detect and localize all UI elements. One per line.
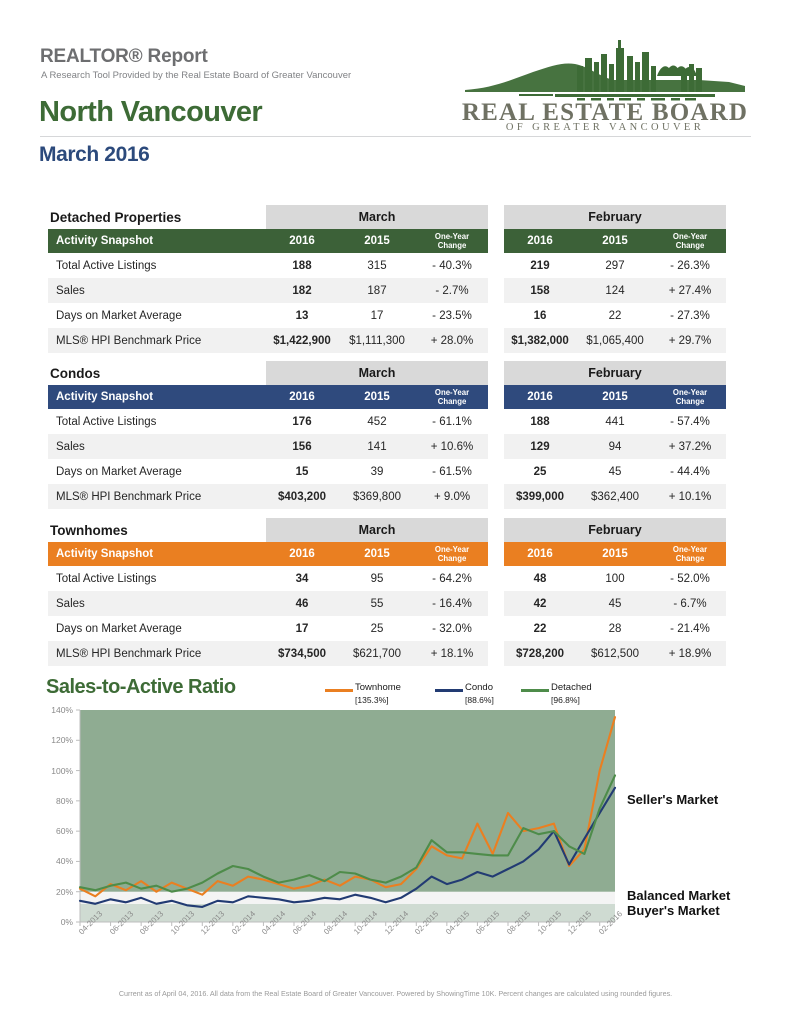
cell-february-2015: 100 [576,566,654,591]
column-gap [488,303,504,328]
legend-swatch-townhome [325,689,353,692]
table-row: MLS® HPI Benchmark Price$403,200$369,800… [48,484,748,509]
y-tick-label: 100% [51,766,73,776]
column-gap [488,434,504,459]
column-gap [488,361,504,385]
column-gap [488,616,504,641]
table-row: Days on Market Average1539- 61.5%2545- 4… [48,459,748,484]
table-month-header-row: CondosMarchFebruary [48,361,748,385]
cell-march-2016: 188 [266,253,338,278]
month-right-header-mid: February [576,518,654,542]
month-left-header [266,518,338,542]
cell-march-2015: 187 [338,278,416,303]
cell-february-2015: 297 [576,253,654,278]
cell-march-2015: 95 [338,566,416,591]
cell-march-2016: 17 [266,616,338,641]
legend-label-townhome: Townhome [355,682,401,693]
row-label: Days on Market Average [48,616,266,641]
y-tick-label: 60% [56,826,73,836]
month-right-header-end [654,361,726,385]
table-section-title: Detached Properties [48,205,266,229]
table-month-header-row: TownhomesMarchFebruary [48,518,748,542]
activity-snapshot-label: Activity Snapshot [48,229,266,253]
cell-february-change: + 29.7% [654,328,726,353]
year-current-header: 2016 [266,229,338,253]
cell-march-2016: 182 [266,278,338,303]
month-right-header-end [654,518,726,542]
cell-march-2016: 46 [266,591,338,616]
cell-february-2015: 45 [576,591,654,616]
cell-march-change: - 64.2% [416,566,488,591]
year-current-header: 2016 [266,385,338,409]
cell-february-change: + 27.4% [654,278,726,303]
year-prior-header: 2015 [576,385,654,409]
cell-february-change: - 21.4% [654,616,726,641]
one-year-change-header: One-YearChange [654,542,726,566]
cell-february-change: + 37.2% [654,434,726,459]
legend-label-detached: Detached [551,682,592,693]
table-row: Total Active Listings176452- 61.1%188441… [48,409,748,434]
page-title: North Vancouver [39,96,262,129]
row-label: Total Active Listings [48,253,266,278]
year-current-header: 2016 [504,542,576,566]
cell-february-change: - 52.0% [654,566,726,591]
one-year-change-header: One-YearChange [416,229,488,253]
y-tick-label: 80% [56,796,73,806]
cell-march-2016: 156 [266,434,338,459]
footer-note: Current as of April 04, 2016. All data f… [0,989,791,998]
cell-february-2016: 22 [504,616,576,641]
column-gap [488,484,504,509]
cell-february-2016: $1,382,000 [504,328,576,353]
table-row: Days on Market Average1317- 23.5%1622- 2… [48,303,748,328]
year-current-header: 2016 [504,229,576,253]
cell-february-2016: 188 [504,409,576,434]
cell-february-change: - 26.3% [654,253,726,278]
column-gap [488,641,504,666]
cell-february-2015: 94 [576,434,654,459]
table-row: MLS® HPI Benchmark Price$1,422,900$1,111… [48,328,748,353]
row-label: Sales [48,434,266,459]
cell-march-2016: 15 [266,459,338,484]
cell-march-change: - 61.5% [416,459,488,484]
legend-swatch-condo [435,689,463,692]
cell-march-2015: $621,700 [338,641,416,666]
year-prior-header: 2015 [576,542,654,566]
year-current-header: 2016 [266,542,338,566]
cell-march-change: + 10.6% [416,434,488,459]
x-axis-labels: 04-201306-201308-201310-201312-201302-20… [0,928,791,988]
cell-march-2016: $1,422,900 [266,328,338,353]
cell-march-2015: 452 [338,409,416,434]
cell-february-change: - 27.3% [654,303,726,328]
year-prior-header: 2015 [576,229,654,253]
cell-march-2016: $403,200 [266,484,338,509]
row-label: Total Active Listings [48,409,266,434]
reb-logo: REAL ESTATE BOARD OF GREATER VANCOUVER [459,36,751,132]
cell-february-change: - 57.4% [654,409,726,434]
cell-march-change: - 61.1% [416,409,488,434]
month-left-header-mid: March [338,361,416,385]
cell-march-change: - 23.5% [416,303,488,328]
activity-snapshot-header-row: Activity Snapshot20162015One-YearChange2… [48,542,748,566]
y-tick-label: 140% [51,705,73,715]
column-gap [488,591,504,616]
cell-march-2015: 25 [338,616,416,641]
chart-plot-area: 0%20%40%60%80%100%120%140%04-201306-2013… [0,702,791,998]
one-year-change-header: One-YearChange [416,385,488,409]
sales-to-active-ratio-chart: Sales-to-Active Ratio Townhome[135.3%]Co… [0,668,791,998]
cell-february-2015: 22 [576,303,654,328]
row-label: Days on Market Average [48,459,266,484]
year-prior-header: 2015 [338,385,416,409]
y-tick-label: 0% [61,917,73,927]
cell-march-change: + 18.1% [416,641,488,666]
table-section-title: Townhomes [48,518,266,542]
cell-march-2016: 13 [266,303,338,328]
table-month-header-row: Detached PropertiesMarchFebruary [48,205,748,229]
report-title: REALTOR® Report [40,46,208,68]
column-gap [488,229,504,253]
cell-february-2016: 25 [504,459,576,484]
column-gap [488,542,504,566]
cell-march-2016: 176 [266,409,338,434]
year-prior-header: 2015 [338,542,416,566]
report-month: March 2016 [39,143,149,167]
year-prior-header: 2015 [338,229,416,253]
cell-february-2016: 158 [504,278,576,303]
column-gap [488,328,504,353]
column-gap [488,518,504,542]
column-gap [488,253,504,278]
column-gap [488,205,504,229]
header-divider [40,136,751,137]
cell-february-2015: $1,065,400 [576,328,654,353]
row-label: MLS® HPI Benchmark Price [48,484,266,509]
report-header: REALTOR® Report A Research Tool Provided… [0,0,791,180]
cell-march-2015: 141 [338,434,416,459]
cell-march-2015: 55 [338,591,416,616]
cell-february-2016: 16 [504,303,576,328]
one-year-change-header: One-YearChange [416,542,488,566]
row-label: Days on Market Average [48,303,266,328]
chart-title: Sales-to-Active Ratio [46,676,236,699]
month-right-header-end [654,205,726,229]
cell-march-change: + 28.0% [416,328,488,353]
y-tick-label: 40% [56,856,73,866]
cell-february-2015: 441 [576,409,654,434]
column-gap [488,385,504,409]
one-year-change-header: One-YearChange [654,229,726,253]
cell-february-2016: $399,000 [504,484,576,509]
month-left-header-mid: March [338,518,416,542]
cell-march-change: - 16.4% [416,591,488,616]
cell-march-change: + 9.0% [416,484,488,509]
legend-swatch-detached [521,689,549,692]
cell-february-change: + 10.1% [654,484,726,509]
row-label: MLS® HPI Benchmark Price [48,328,266,353]
cell-march-change: - 40.3% [416,253,488,278]
cell-february-change: - 44.4% [654,459,726,484]
cell-february-2016: 48 [504,566,576,591]
month-right-header-mid: February [576,205,654,229]
month-right-header [504,205,576,229]
market-annotation-seller-s-market: Seller's Market [627,792,718,807]
cell-february-2015: 45 [576,459,654,484]
cell-march-change: - 2.7% [416,278,488,303]
year-current-header: 2016 [504,385,576,409]
activity-snapshot-label: Activity Snapshot [48,385,266,409]
table-condos: CondosMarchFebruaryActivity Snapshot2016… [48,361,748,509]
activity-snapshot-label: Activity Snapshot [48,542,266,566]
column-gap [488,566,504,591]
activity-snapshot-header-row: Activity Snapshot20162015One-YearChange2… [48,229,748,253]
cell-march-2016: $734,500 [266,641,338,666]
table-row: Total Active Listings3495- 64.2%48100- 5… [48,566,748,591]
cell-march-change: - 32.0% [416,616,488,641]
month-right-header-mid: February [576,361,654,385]
column-gap [488,409,504,434]
market-annotation-buyer-s-market: Buyer's Market [627,903,720,918]
month-left-header-mid: March [338,205,416,229]
logo-line2-text: OF GREATER VANCOUVER [506,122,704,132]
table-detached-properties: Detached PropertiesMarchFebruaryActivity… [48,205,748,353]
activity-snapshot-header-row: Activity Snapshot20162015One-YearChange2… [48,385,748,409]
cell-february-2015: $362,400 [576,484,654,509]
month-left-header-end [416,518,488,542]
table-row: Sales156141+ 10.6%12994+ 37.2% [48,434,748,459]
cell-february-2015: 28 [576,616,654,641]
y-tick-label: 120% [51,735,73,745]
row-label: MLS® HPI Benchmark Price [48,641,266,666]
realtor-report-page: REALTOR® Report A Research Tool Provided… [0,0,791,1024]
legend-label-condo: Condo [465,682,493,693]
month-right-header [504,518,576,542]
cell-march-2016: 34 [266,566,338,591]
cell-february-2016: 129 [504,434,576,459]
table-row: Sales182187- 2.7%158124+ 27.4% [48,278,748,303]
cell-february-2016: 219 [504,253,576,278]
table-row: Days on Market Average1725- 32.0%2228- 2… [48,616,748,641]
cell-february-change: + 18.9% [654,641,726,666]
row-label: Total Active Listings [48,566,266,591]
cell-march-2015: 315 [338,253,416,278]
table-row: MLS® HPI Benchmark Price$734,500$621,700… [48,641,748,666]
cell-february-2016: 42 [504,591,576,616]
table-section-title: Condos [48,361,266,385]
month-left-header [266,361,338,385]
column-gap [488,459,504,484]
month-left-header-end [416,205,488,229]
y-tick-label: 20% [56,887,73,897]
report-subtitle: A Research Tool Provided by the Real Est… [41,70,351,81]
cell-march-2015: 39 [338,459,416,484]
cell-february-change: - 6.7% [654,591,726,616]
cell-february-2015: $612,500 [576,641,654,666]
row-label: Sales [48,278,266,303]
one-year-change-header: One-YearChange [654,385,726,409]
column-gap [488,278,504,303]
row-label: Sales [48,591,266,616]
month-left-header [266,205,338,229]
cell-march-2015: 17 [338,303,416,328]
cell-march-2015: $369,800 [338,484,416,509]
cell-february-2016: $728,200 [504,641,576,666]
cell-march-2015: $1,111,300 [338,328,416,353]
table-row: Total Active Listings188315- 40.3%219297… [48,253,748,278]
table-row: Sales4655- 16.4%4245- 6.7% [48,591,748,616]
market-annotation-balanced-market: Balanced Market [627,888,730,903]
month-left-header-end [416,361,488,385]
cell-february-2015: 124 [576,278,654,303]
month-right-header [504,361,576,385]
table-townhomes: TownhomesMarchFebruaryActivity Snapshot2… [48,518,748,666]
